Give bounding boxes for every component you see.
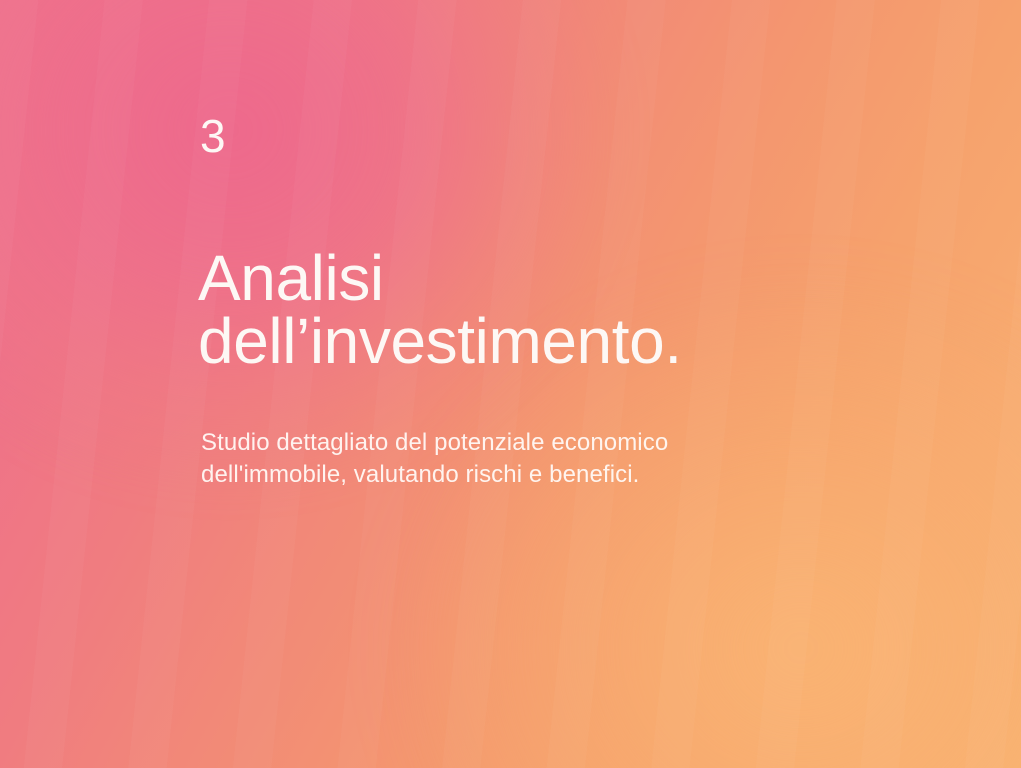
slide-canvas: 3 Analisi dell’investimento. Studio dett… [0,0,1021,768]
section-number: 3 [200,113,226,159]
slide-content: 3 Analisi dell’investimento. Studio dett… [200,0,960,768]
page-title: Analisi dell’investimento. [198,247,682,373]
slide-subtitle: Studio dettagliato del potenziale econom… [201,427,668,491]
